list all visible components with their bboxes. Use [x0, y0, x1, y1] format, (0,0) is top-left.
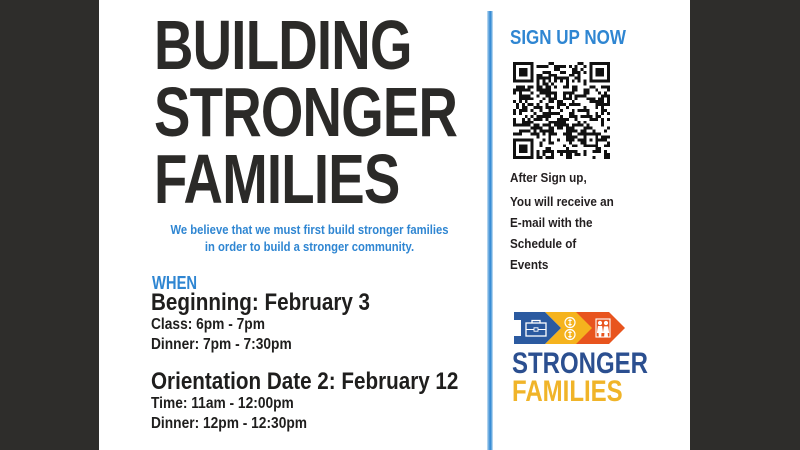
event-2-line-2: Dinner: 12pm - 12:30pm	[151, 414, 448, 434]
event-1-heading: Beginning: February 3	[151, 290, 443, 315]
page-title: BUILDING STRONGER FAMILIES	[154, 12, 411, 214]
tagline-line-1: We believe that we must first build stro…	[163, 222, 456, 239]
logo-word-stronger: STRONGER	[512, 350, 606, 378]
signup-title: SIGN UP NOW	[510, 27, 626, 50]
stronger-families-logo: STRONGER FAMILIES	[512, 310, 630, 405]
after-signup-text: After Sign up,	[510, 170, 587, 185]
flyer-page: BUILDING STRONGER FAMILIES We believe th…	[99, 0, 690, 450]
event-1-line-1: Class: 6pm - 7pm	[151, 315, 443, 335]
headline-line-3: FAMILIES	[154, 146, 411, 213]
logo-word-families: FAMILIES	[512, 378, 606, 406]
letterbox-bar-left	[0, 0, 99, 450]
headline-line-2: STRONGER	[154, 79, 411, 146]
flyer-left-column: BUILDING STRONGER FAMILIES We believe th…	[99, 0, 485, 450]
event-1-line-2: Dinner: 7pm - 7:30pm	[151, 335, 443, 355]
qr-code[interactable]	[513, 62, 610, 159]
vertical-divider	[487, 11, 493, 450]
instruction-line-2: E-mail with the	[510, 212, 654, 233]
instruction-line-3: Schedule of	[510, 233, 654, 254]
headline-line-1: BUILDING	[154, 12, 411, 79]
slide-screen: BUILDING STRONGER FAMILIES We believe th…	[0, 0, 800, 450]
event-block-1: Beginning: February 3 Class: 6pm - 7pm D…	[151, 290, 491, 354]
tagline-line-2: in order to build a stronger community.	[163, 239, 456, 256]
event-2-line-1: Time: 11am - 12:00pm	[151, 394, 448, 414]
event-2-heading: Orientation Date 2: February 12	[151, 369, 448, 394]
tagline: We believe that we must first build stro…	[163, 222, 456, 256]
instruction-line-4: Events	[510, 254, 654, 275]
flyer-right-column: SIGN UP NOW After Sign up, You will rece…	[499, 0, 690, 450]
letterbox-bar-right	[690, 0, 800, 450]
logo-arrow-icons	[512, 310, 627, 346]
instruction-line-1: You will receive an	[510, 191, 654, 212]
event-block-2: Orientation Date 2: February 12 Time: 11…	[151, 369, 496, 433]
signup-instructions: You will receive an E-mail with the Sche…	[510, 191, 654, 275]
